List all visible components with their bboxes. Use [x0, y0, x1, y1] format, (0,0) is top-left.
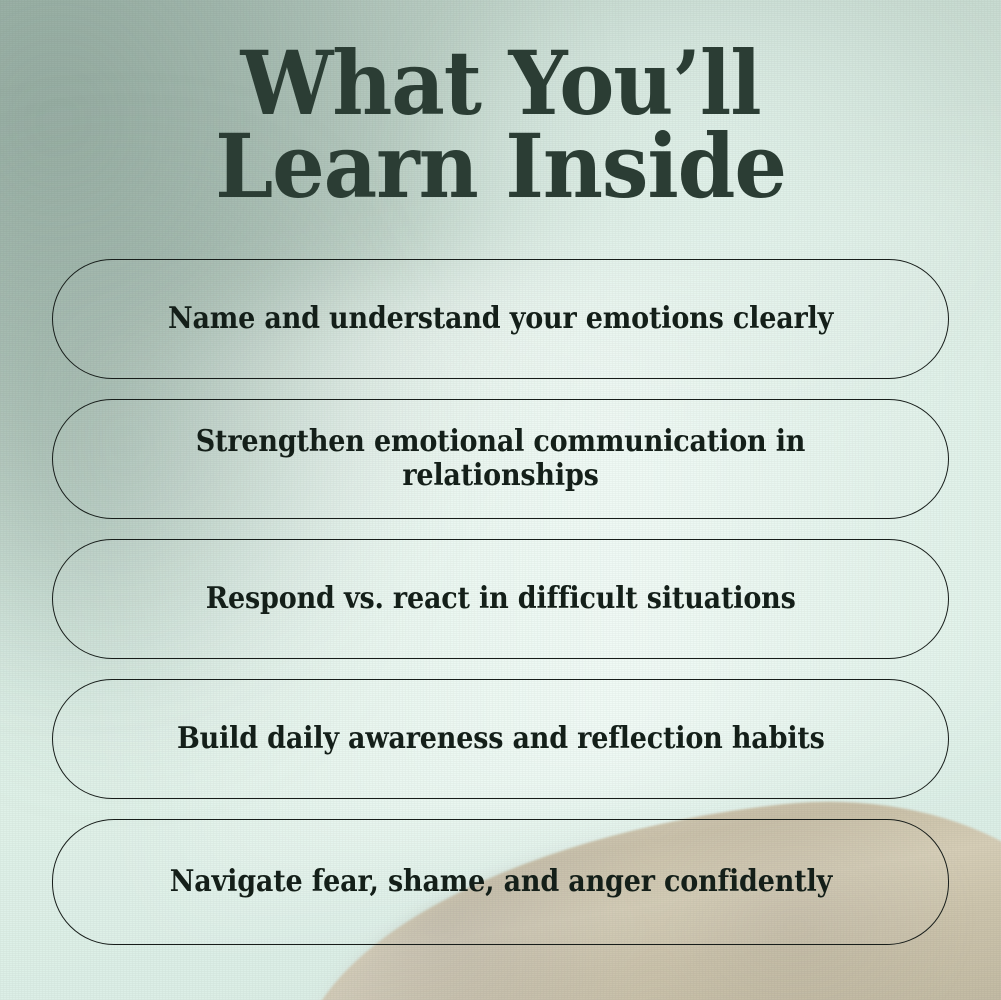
learn-items-list: Name and understand your emotions clearl…: [52, 259, 949, 945]
page-title-line-1: What You’ll: [30, 42, 971, 125]
list-item-label: Navigate fear, shame, and anger confiden…: [169, 865, 831, 899]
poster-content: What You’ll Learn Inside Name and unders…: [0, 0, 1001, 1000]
page-title-line-2: Learn Inside: [30, 125, 971, 208]
list-item-label: Build daily awareness and reflection hab…: [177, 722, 825, 756]
list-item[interactable]: Build daily awareness and reflection hab…: [52, 679, 949, 799]
list-item-label: Strengthen emotional communication in re…: [139, 425, 862, 492]
poster-canvas: What You’ll Learn Inside Name and unders…: [0, 0, 1001, 1000]
list-item[interactable]: Respond vs. react in difficult situation…: [52, 539, 949, 659]
list-item[interactable]: Navigate fear, shame, and anger confiden…: [52, 819, 949, 945]
page-title: What You’ll Learn Inside: [30, 42, 971, 207]
list-item-label: Name and understand your emotions clearl…: [168, 302, 833, 336]
list-item[interactable]: Strengthen emotional communication in re…: [52, 399, 949, 519]
list-item[interactable]: Name and understand your emotions clearl…: [52, 259, 949, 379]
list-item-label: Respond vs. react in difficult situation…: [206, 582, 796, 616]
